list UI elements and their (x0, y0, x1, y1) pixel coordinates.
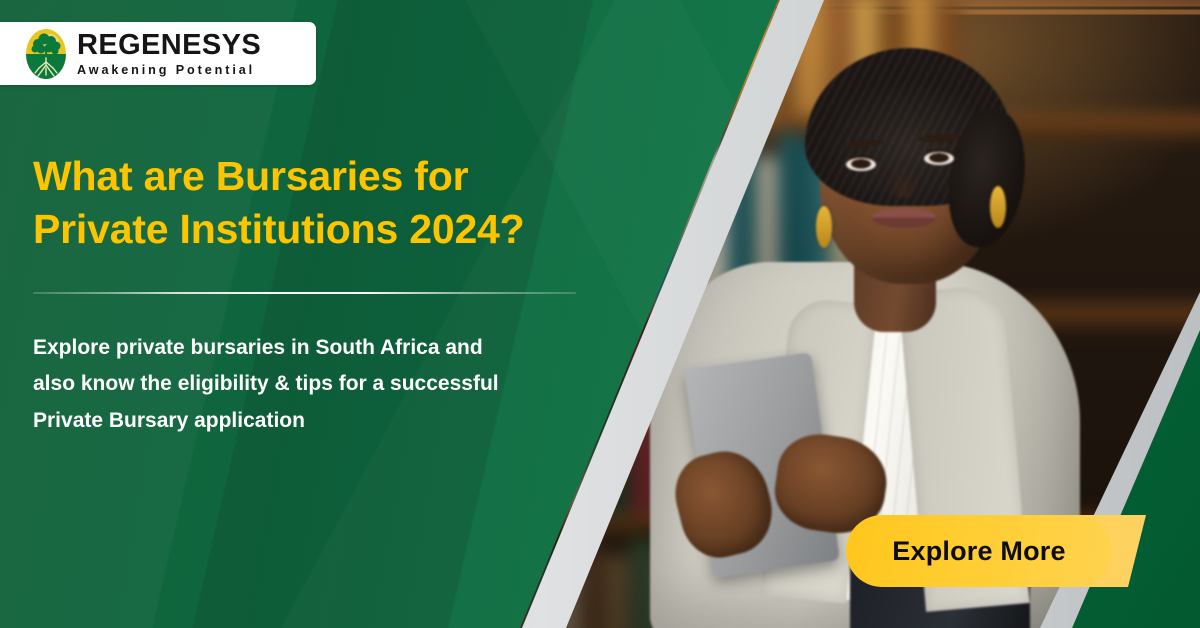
tree-with-roots-emblem-icon (24, 28, 68, 80)
cta-container: Explore More (846, 515, 1146, 587)
earring-left (816, 206, 832, 248)
nose (886, 168, 920, 198)
explore-more-button[interactable]: Explore More (846, 515, 1112, 587)
brand-logo[interactable]: REGENESYS Awakening Potential (0, 22, 316, 85)
earring-right (990, 186, 1006, 228)
eye-right (924, 152, 954, 165)
page-title: What are Bursaries for Private Instituti… (33, 150, 593, 257)
subtitle: Explore private bursaries in South Afric… (33, 330, 593, 440)
eye-left (846, 158, 876, 171)
banner-content: What are Bursaries for Private Instituti… (33, 150, 593, 440)
subtitle-line-3: Private Bursary application (33, 403, 593, 440)
logo-wordmark: REGENESYS Awakening Potential (77, 31, 261, 77)
headline-line-2: Private Institutions 2024? (33, 203, 593, 256)
subtitle-line-2: also know the eligibility & tips for a s… (33, 366, 593, 403)
marketing-banner: REGENESYS Awakening Potential What are B… (0, 0, 1200, 628)
logo-title: REGENESYS (77, 31, 261, 60)
divider (33, 292, 576, 294)
headline-line-1: What are Bursaries for (33, 150, 593, 203)
mouth (872, 208, 936, 228)
logo-tagline: Awakening Potential (77, 64, 261, 77)
subtitle-line-1: Explore private bursaries in South Afric… (33, 330, 593, 367)
